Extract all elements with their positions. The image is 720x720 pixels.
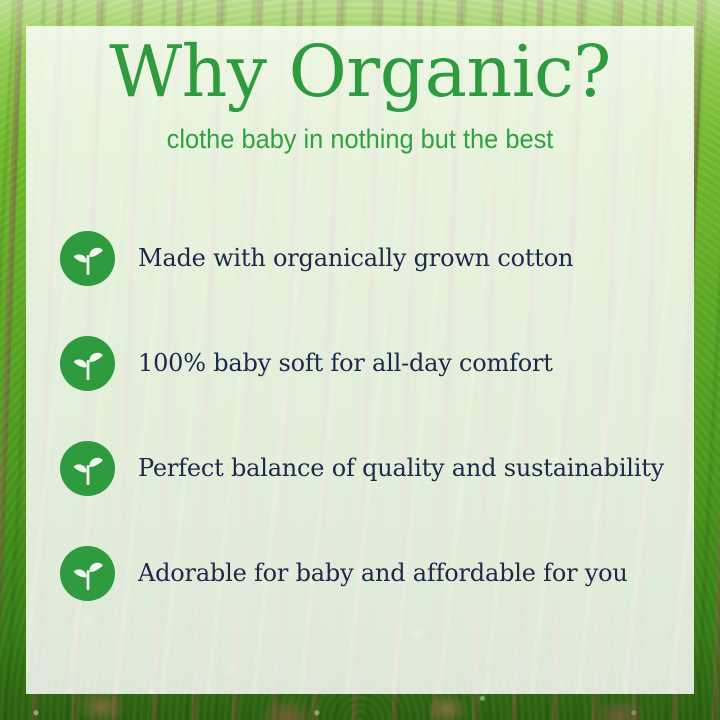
benefit-label: 100% baby soft for all-day comfort <box>138 350 553 378</box>
why-organic-poster: Why Organic? clothe baby in nothing but … <box>0 0 720 720</box>
benefit-label: Adorable for baby and affordable for you <box>138 560 628 588</box>
sprout-icon <box>60 546 115 601</box>
benefit-label: Perfect balance of quality and sustainab… <box>138 455 664 483</box>
benefit-item-3: Perfect balance of quality and sustainab… <box>60 416 690 521</box>
sprout-icon <box>60 441 115 496</box>
benefit-item-4: Adorable for baby and affordable for you <box>60 521 690 626</box>
benefits-list: Made with organically grown cotton 100% … <box>60 206 690 626</box>
sprout-icon <box>60 336 115 391</box>
poster-content: Why Organic? clothe baby in nothing but … <box>0 0 720 720</box>
benefit-item-1: Made with organically grown cotton <box>60 206 690 311</box>
page-subtitle: clothe baby in nothing but the best <box>22 125 699 155</box>
page-title: Why Organic? <box>0 36 720 107</box>
sprout-icon <box>60 231 115 286</box>
benefit-item-2: 100% baby soft for all-day comfort <box>60 311 690 416</box>
benefit-label: Made with organically grown cotton <box>138 245 573 273</box>
